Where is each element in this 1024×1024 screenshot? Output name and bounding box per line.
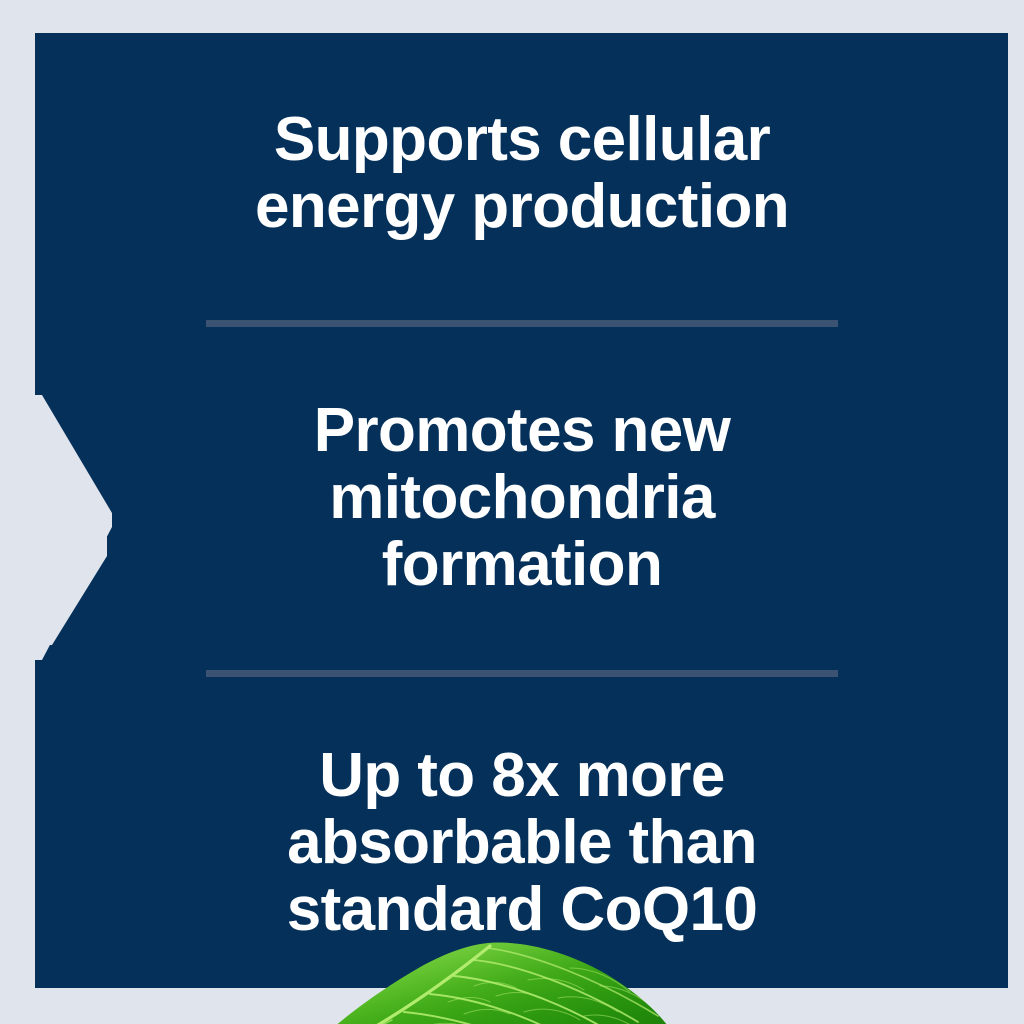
benefit-divider-1 xyxy=(206,320,838,327)
divider-spacer-bottom-2 xyxy=(152,677,892,698)
benefit-item-cellular-energy: Supports cellular energy production xyxy=(152,57,892,299)
benefit-text-absorbability: Up to 8x more absorbable than standard C… xyxy=(287,743,758,944)
benefit-text-cellular-energy: Supports cellular energy production xyxy=(255,107,789,241)
benefits-card: Supports cellular energy production Prom… xyxy=(0,0,1024,1024)
benefit-item-mitochondria: Promotes new mitochondria formation xyxy=(152,348,892,649)
divider-spacer-top-2 xyxy=(152,649,892,670)
benefit-divider-2 xyxy=(206,670,838,677)
divider-spacer-top-1 xyxy=(152,299,892,320)
benefits-list: Supports cellular energy production Prom… xyxy=(152,33,892,988)
benefit-item-absorbability: Up to 8x more absorbable than standard C… xyxy=(152,698,892,988)
divider-spacer-bottom-1 xyxy=(152,327,892,348)
list-top-spacer xyxy=(152,33,892,57)
benefit-text-mitochondria: Promotes new mitochondria formation xyxy=(314,398,731,599)
